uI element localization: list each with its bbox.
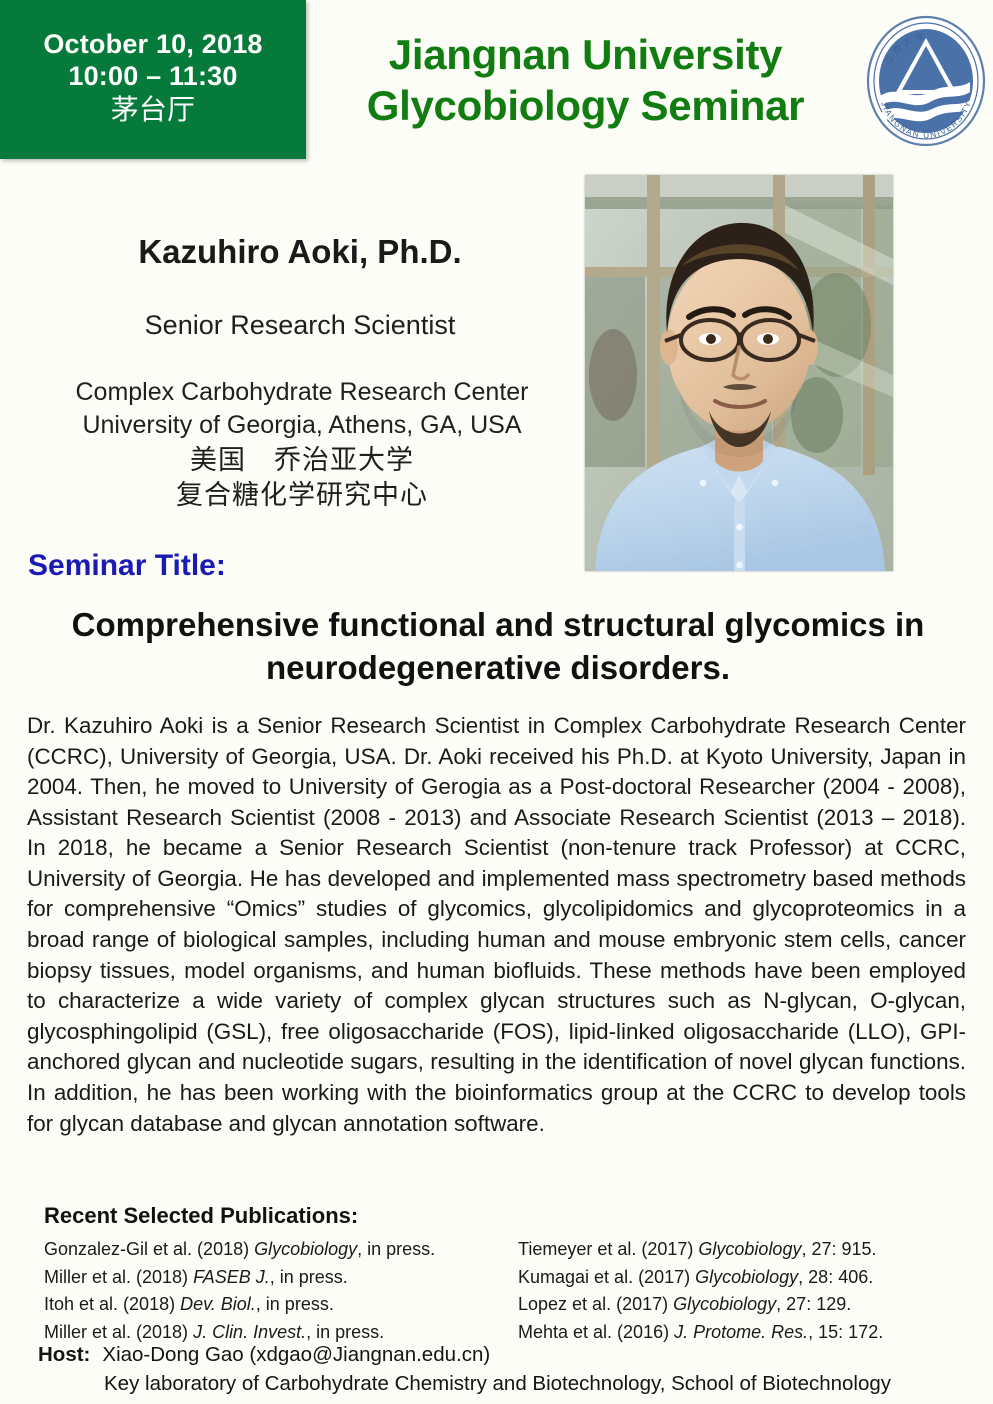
publication-citation: , in press. (306, 1322, 384, 1342)
publication-authors: Lopez et al. (2017) (518, 1294, 673, 1314)
publication-citation: , in press. (256, 1294, 334, 1314)
event-date: October 10, 2018 (43, 29, 262, 61)
publication-journal: FASEB J. (193, 1267, 270, 1287)
publication-entry: Kumagai et al. (2017) Glycobiology, 28: … (518, 1264, 978, 1292)
publication-journal: Glycobiology (673, 1294, 776, 1314)
publication-entry: Lopez et al. (2017) Glycobiology, 27: 12… (518, 1291, 978, 1319)
publication-citation: , 27: 129. (776, 1294, 851, 1314)
publication-journal: J. Protome. Res. (674, 1322, 808, 1342)
poster-title-line-1: Jiangnan University (318, 29, 853, 80)
publication-authors: Itoh et al. (2018) (44, 1294, 180, 1314)
publications-column-left: Gonzalez-Gil et al. (2018) Glycobiology,… (44, 1236, 514, 1346)
host-label: Host: (38, 1340, 90, 1369)
speaker-role: Senior Research Scientist (40, 310, 560, 341)
publication-entry: Miller et al. (2018) FASEB J., in press. (44, 1264, 514, 1292)
publication-citation: , 15: 172. (808, 1322, 883, 1342)
publication-journal: Glycobiology (698, 1239, 801, 1259)
event-datetime-block: October 10, 2018 10:00 – 11:30 茅台厅 (0, 0, 306, 159)
host-info: Host: Xiao-Dong Gao (xdgao@Jiangnan.edu.… (38, 1340, 978, 1398)
publication-authors: Miller et al. (2018) (44, 1322, 193, 1342)
affiliation-line-2: University of Georgia, Athens, GA, USA (28, 409, 576, 442)
jiangnan-university-logo-icon: 江 南 大 学 JIANGNAN UNIVERSITY (864, 12, 988, 150)
speaker-affiliation: Complex Carbohydrate Research Center Uni… (28, 376, 576, 514)
publication-entry: Gonzalez-Gil et al. (2018) Glycobiology,… (44, 1236, 514, 1264)
speaker-name: Kazuhiro Aoki, Ph.D. (40, 233, 560, 271)
publication-citation: , in press. (270, 1267, 348, 1287)
poster-title-line-2: Glycobiology Seminar (318, 80, 853, 131)
affiliation-cn-1: 美国 乔治亚大学 (28, 443, 576, 479)
publication-citation: , 27: 915. (801, 1239, 876, 1259)
affiliation-cn-2: 复合糖化学研究中心 (28, 478, 576, 514)
speaker-photo (585, 175, 893, 571)
publication-journal: J. Clin. Invest. (193, 1322, 306, 1342)
publication-citation: , 28: 406. (798, 1267, 873, 1287)
publication-entry: Tiemeyer et al. (2017) Glycobiology, 27:… (518, 1236, 978, 1264)
host-name-email: Xiao-Dong Gao (xdgao@Jiangnan.edu.cn) (102, 1340, 490, 1369)
event-room: 茅台厅 (111, 93, 196, 126)
publications-heading: Recent Selected Publications: (44, 1203, 358, 1229)
publication-authors: Mehta et al. (2016) (518, 1322, 674, 1342)
poster-title: Jiangnan University Glycobiology Seminar (318, 10, 853, 150)
seminar-title-label: Seminar Title: (28, 549, 226, 583)
event-time: 10:00 – 11:30 (68, 61, 237, 93)
publication-authors: Tiemeyer et al. (2017) (518, 1239, 698, 1259)
affiliation-line-1: Complex Carbohydrate Research Center (28, 376, 576, 409)
publication-journal: Glycobiology (695, 1267, 798, 1287)
publication-journal: Glycobiology (254, 1239, 357, 1259)
seminar-title-text: Comprehensive functional and structural … (58, 604, 938, 690)
host-department: Key laboratory of Carbohydrate Chemistry… (104, 1369, 978, 1398)
publication-authors: Miller et al. (2018) (44, 1267, 193, 1287)
speaker-biography: Dr. Kazuhiro Aoki is a Senior Research S… (27, 711, 966, 1139)
publication-authors: Gonzalez-Gil et al. (2018) (44, 1239, 254, 1259)
publication-entry: Itoh et al. (2018) Dev. Biol., in press. (44, 1291, 514, 1319)
seminar-poster: October 10, 2018 10:00 – 11:30 茅台厅 Jiang… (0, 0, 993, 1404)
publications-column-right: Tiemeyer et al. (2017) Glycobiology, 27:… (518, 1236, 978, 1346)
publication-authors: Kumagai et al. (2017) (518, 1267, 695, 1287)
publication-citation: , in press. (357, 1239, 435, 1259)
publication-journal: Dev. Biol. (180, 1294, 256, 1314)
